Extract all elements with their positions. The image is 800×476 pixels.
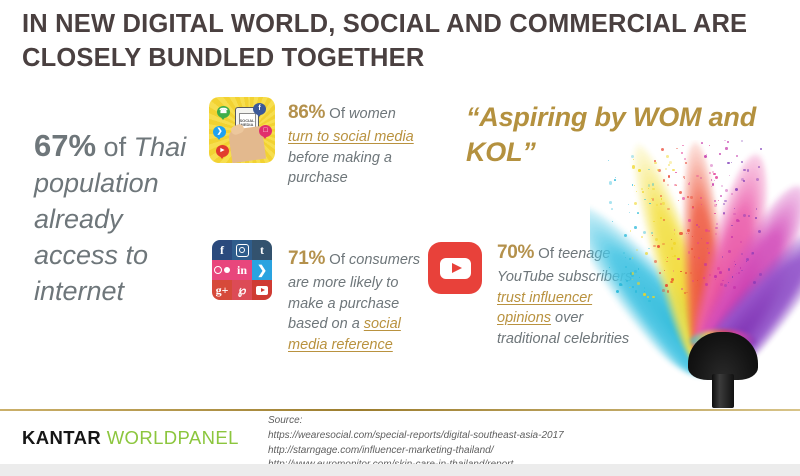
facebook-bubble-icon: f (253, 103, 266, 115)
source-url-1: https://wearesocial.com/special-reports/… (268, 429, 564, 444)
pinterest-icon: ℘ (232, 280, 252, 300)
stat-70-number: 70% (497, 242, 534, 263)
powder-plume-purple (691, 206, 800, 387)
twitter-bubble-icon: ❯ (213, 126, 226, 138)
instagram-bubble-icon: □ (259, 125, 272, 137)
stat-71-number: 71% (288, 248, 325, 269)
flickr-icon (212, 260, 232, 280)
stat-70-block: 70% Of teenage YouTube subscribers trust… (497, 240, 647, 349)
logo-worldpanel-text: WORLDPANEL (107, 427, 239, 448)
brush-handle (712, 374, 734, 408)
instagram-icon (232, 240, 252, 260)
linkedin-icon: in (232, 260, 252, 280)
powder-plume-magenta (685, 174, 800, 382)
stat-70-of: Of (538, 245, 554, 262)
logo-kantar-text: KANTAR (22, 427, 101, 448)
stat-86-text-before: women (349, 106, 396, 122)
source-label: Source: (268, 414, 564, 429)
powder-plume-pink (684, 149, 784, 376)
pull-quote: “Aspiring by WOM and KOL” (466, 100, 786, 169)
stat-86-text-after: before making a purchase (288, 150, 392, 187)
stat-86-block: 86% Of women turn to social media before… (288, 100, 423, 189)
stat-71-block: 71% Of consumers are more likely to make… (288, 246, 423, 355)
whatsapp-bubble-icon: ☎ (217, 106, 230, 118)
stat-67-block: 67% of Thai population already access to… (34, 125, 209, 310)
page-title: IN NEW DIGITAL WORLD, SOCIAL AND COMMERC… (22, 8, 762, 75)
brush-bristles (688, 332, 758, 380)
tumblr-icon: t (252, 240, 272, 260)
powder-plume-red (674, 141, 733, 371)
twitter-icon: ❯ (252, 260, 272, 280)
infographic-slide: IN NEW DIGITAL WORLD, SOCIAL AND COMMERC… (0, 0, 800, 476)
youtube-play-shape (440, 258, 471, 279)
brush-tip-color (690, 330, 756, 346)
bottom-strip (0, 464, 800, 476)
stat-67-of: of (96, 132, 126, 162)
youtube-icon (428, 242, 482, 294)
stat-86-number: 86% (288, 102, 325, 123)
youtube-grid-icon (252, 280, 272, 300)
stat-86-highlight: turn to social media (288, 129, 414, 145)
facebook-icon: f (212, 240, 232, 260)
stat-67-number: 67% (34, 128, 96, 163)
stat-86-of: Of (329, 105, 345, 122)
kantar-worldpanel-logo: KANTAR WORLDPANEL (22, 427, 239, 449)
source-url-2: http://starngage.com/influencer-marketin… (268, 444, 564, 459)
google-plus-icon: g+ (212, 280, 232, 300)
gold-divider (0, 409, 800, 411)
social-network-grid-icon: f t in ❯ g+ ℘ (212, 240, 272, 300)
phone-social-bubbles-icon: SOCIAL MEDIA ☎ f ❯ □ ► (209, 97, 275, 163)
youtube-bubble-icon: ► (216, 145, 229, 157)
stat-71-of: Of (329, 251, 345, 268)
